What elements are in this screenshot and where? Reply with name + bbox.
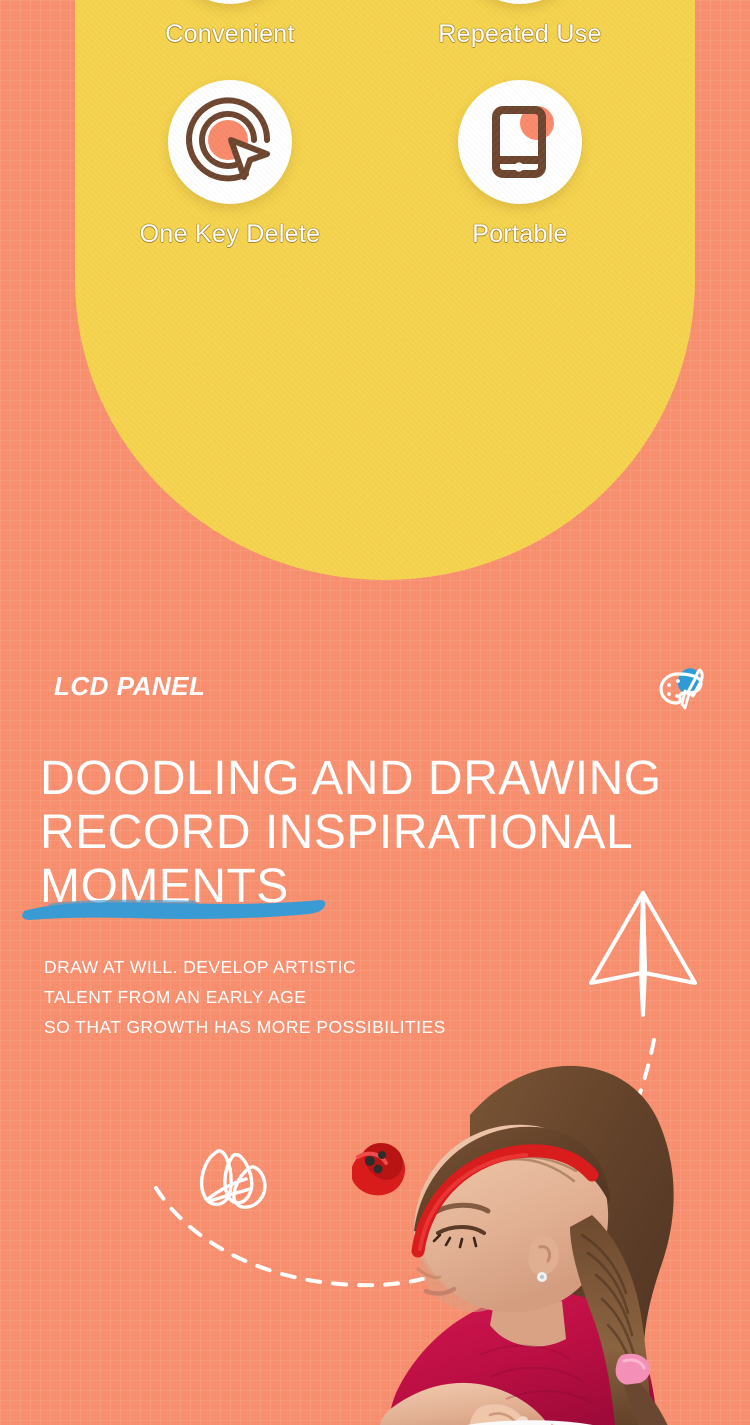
body-line: SO THAT GROWTH HAS MORE POSSIBILITIES	[44, 1012, 604, 1042]
feature-item-one-key-delete[interactable]: One Key Delete	[105, 80, 355, 249]
feature-label: Portable	[395, 220, 645, 249]
feature-label: Convenient	[105, 20, 355, 49]
feature-item-convenient[interactable]: Convenient	[105, 0, 355, 49]
headline-line: DOODLING AND DRAWING	[40, 752, 700, 806]
girl-drawing-photo	[330, 1055, 750, 1425]
body-copy: DRAW AT WILL. DEVELOP ARTISTIC TALENT FR…	[44, 952, 604, 1042]
feature-label: Repeated Use	[395, 20, 645, 49]
palette-brush-icon	[168, 0, 292, 4]
tablet-icon	[458, 80, 582, 204]
refresh-cycle-icon	[458, 0, 582, 4]
eyebrow-label: LCD PANEL	[54, 671, 205, 702]
paper-plane-icon	[583, 885, 703, 1025]
target-cursor-icon	[168, 80, 292, 204]
feature-item-repeated-use[interactable]: Repeated Use	[395, 0, 645, 49]
feature-label: One Key Delete	[105, 220, 355, 249]
body-line: DRAW AT WILL. DEVELOP ARTISTIC	[44, 952, 604, 982]
promo-page: Convenient Repeated Use	[0, 0, 750, 1425]
feature-panel: Convenient Repeated Use	[75, 0, 695, 580]
palette-badge-icon	[656, 664, 708, 716]
feature-item-portable[interactable]: Portable	[395, 80, 645, 249]
body-line: TALENT FROM AN EARLY AGE	[44, 982, 604, 1012]
brush-stroke-underline	[20, 893, 330, 925]
headline-line: RECORD INSPIRATIONAL	[40, 806, 700, 860]
